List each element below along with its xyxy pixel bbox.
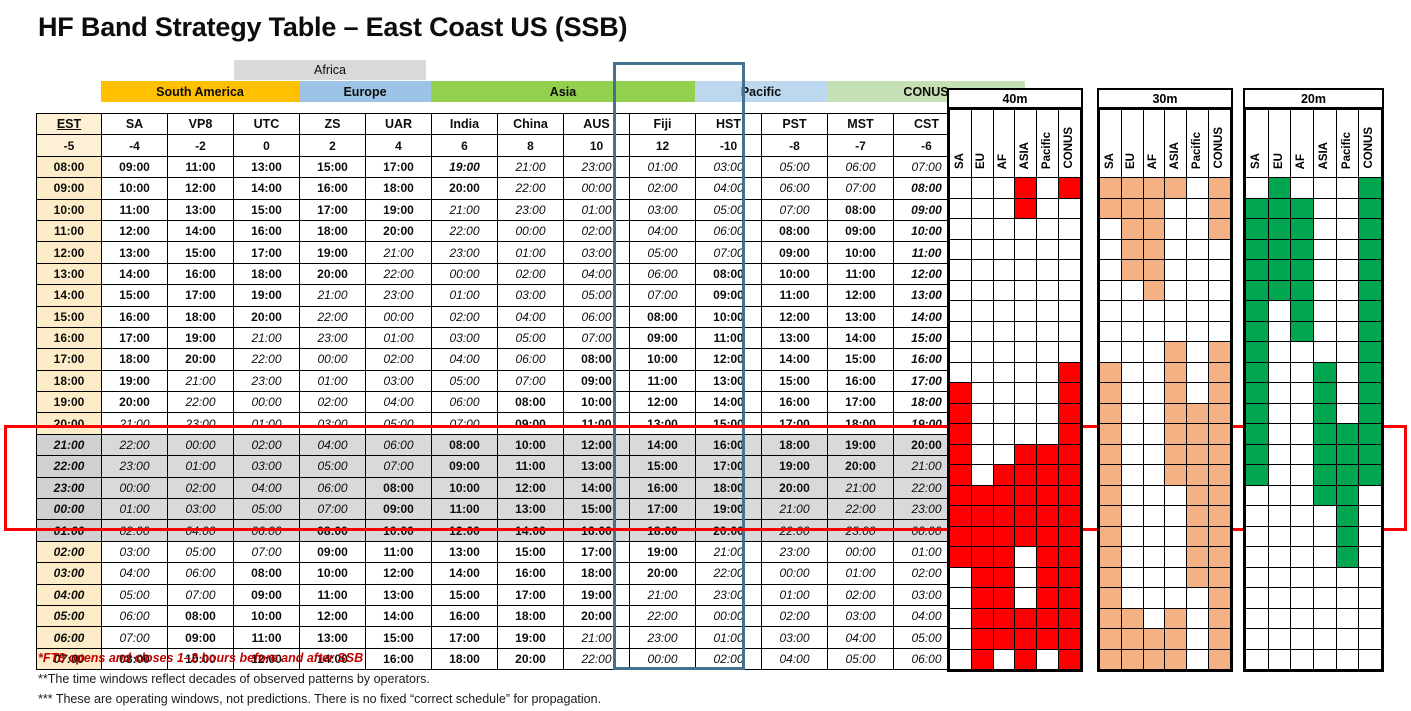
band-col-header-sa: SA [1246,110,1269,178]
band-cell-40m-1900-eu [971,403,993,424]
band-cell-30m-2000-sa [1100,424,1122,445]
time-cell-mst: 02:00 [828,584,894,605]
band-cell-30m-1100-pacific [1187,239,1209,260]
band-cell-20m-1600-conus [1359,342,1382,363]
band-cell-30m-0600-conus [1209,629,1231,650]
band-cell-20m-1300-conus [1359,280,1382,301]
time-cell-uar: 19:00 [366,199,432,220]
band-grid-row [1246,424,1382,445]
table-row: 01:0002:0004:0006:0008:0010:0012:0014:00… [37,520,960,541]
est-time-cell: 02:00 [37,541,102,562]
page-title: HF Band Strategy Table – East Coast US (… [38,12,627,43]
band-grid-row [1246,321,1382,342]
time-cell-utc: 16:00 [234,220,300,241]
band-cell-20m-1900-eu [1268,403,1291,424]
band-col-header-af: AF [993,110,1015,178]
table-row: 02:0003:0005:0007:0009:0011:0013:0015:00… [37,541,960,562]
utc-offset-aus: 10 [564,135,630,156]
band-cell-30m-2200-eu [1121,465,1143,486]
est-time-cell: 04:00 [37,584,102,605]
time-cell-pst: 09:00 [762,242,828,263]
band-grid-row [950,321,1081,342]
band-cell-30m-1900-asia [1165,403,1187,424]
time-cell-aus: 12:00 [564,434,630,455]
band-cell-40m-0600-asia [1015,629,1037,650]
column-header-uar: UAR [366,114,432,135]
band-grid-30m: SAEUAFASIAPacificCONUS [1099,109,1231,670]
time-cell-mst: 19:00 [828,434,894,455]
band-cell-20m-0100-af [1291,526,1314,547]
band-cell-20m-0000-asia [1313,506,1336,527]
band-cell-20m-0700-asia [1313,649,1336,670]
time-cell-pst: 20:00 [762,477,828,498]
band-cell-20m-0200-conus [1359,547,1382,568]
time-cell-india: 00:00 [432,263,498,284]
time-cell-mst: 21:00 [828,477,894,498]
band-cell-30m-0300-sa [1100,567,1122,588]
band-grid-row [950,629,1081,650]
time-cell-aus: 23:00 [564,156,630,177]
band-col-header-asia: ASIA [1015,110,1037,178]
time-cell-sa: 16:00 [102,306,168,327]
band-cell-30m-0700-asia [1165,649,1187,670]
band-cell-20m-2000-pacific [1336,424,1359,445]
band-grid-row [950,649,1081,670]
band-cell-40m-1800-sa [950,383,972,404]
time-cell-zs: 05:00 [300,456,366,477]
time-cell-mst: 14:00 [828,327,894,348]
band-cell-30m-1000-sa [1100,219,1122,240]
band-grid-row [950,588,1081,609]
band-cell-40m-0200-pacific [1037,547,1059,568]
time-cell-vp8: 11:00 [168,156,234,177]
band-grid-row [950,198,1081,219]
time-cell-mst: 04:00 [828,627,894,648]
time-cell-utc: 00:00 [234,392,300,413]
time-cell-sa: 20:00 [102,392,168,413]
band-cell-20m-1300-eu [1268,280,1291,301]
band-grid-row [950,506,1081,527]
band-cell-30m-1600-sa [1100,342,1122,363]
band-cell-40m-0700-pacific [1037,649,1059,670]
band-cell-30m-1200-asia [1165,260,1187,281]
time-cell-uar: 06:00 [366,434,432,455]
band-cell-20m-2200-eu [1268,465,1291,486]
time-cell-uar: 21:00 [366,242,432,263]
band-cell-20m-1600-sa [1246,342,1269,363]
band-cell-30m-0000-af [1143,506,1165,527]
time-cell-fiji: 03:00 [630,199,696,220]
time-cell-uar: 07:00 [366,456,432,477]
band-cell-40m-0700-af [993,649,1015,670]
time-cell-hst: 03:00 [696,156,762,177]
time-cell-hst: 07:00 [696,242,762,263]
time-cell-uar: 10:00 [366,520,432,541]
time-cell-china: 03:00 [498,285,564,306]
time-cell-mst: 00:00 [828,541,894,562]
band-grid-row [1100,588,1231,609]
time-cell-mst: 07:00 [828,178,894,199]
region-label-africa: Africa [234,60,426,80]
time-cell-zs: 04:00 [300,434,366,455]
band-cell-20m-2300-eu [1268,485,1291,506]
band-grid-row [1246,588,1382,609]
band-cell-30m-2000-af [1143,424,1165,445]
band-cell-20m-1300-sa [1246,280,1269,301]
time-cell-hst: 00:00 [696,605,762,626]
band-cell-30m-0000-sa [1100,506,1122,527]
time-cell-hst: 21:00 [696,541,762,562]
band-cell-40m-1900-af [993,403,1015,424]
band-cell-20m-0700-conus [1359,649,1382,670]
band-cell-20m-1800-pacific [1336,383,1359,404]
band-cell-40m-0200-conus [1059,547,1081,568]
time-cell-china: 05:00 [498,327,564,348]
time-cell-pst: 19:00 [762,456,828,477]
time-cell-uar: 03:00 [366,370,432,391]
table-head: ESTSAVP8UTCZSUARIndiaChinaAUSFijiHSTPSTM… [37,114,960,157]
band-cell-40m-2300-eu [971,485,993,506]
band-grid-row [950,301,1081,322]
band-cell-20m-2200-conus [1359,465,1382,486]
band-cell-20m-1600-af [1291,342,1314,363]
band-cell-20m-1900-sa [1246,403,1269,424]
est-time-cell: 15:00 [37,306,102,327]
table-row: 19:0020:0022:0000:0002:0004:0006:0008:00… [37,392,960,413]
band-cell-20m-0400-asia [1313,588,1336,609]
time-cell-pst: 03:00 [762,627,828,648]
utc-offset-vp8: -2 [168,135,234,156]
band-cell-40m-0200-sa [950,547,972,568]
time-cell-mst: 08:00 [828,199,894,220]
time-cell-mst: 22:00 [828,499,894,520]
band-cell-30m-2100-eu [1121,444,1143,465]
table-row: 22:0023:0001:0003:0005:0007:0009:0011:00… [37,456,960,477]
band-cell-40m-0600-eu [971,629,993,650]
time-cell-utc: 10:00 [234,605,300,626]
time-cell-india: 19:00 [432,156,498,177]
band-cell-40m-1200-af [993,260,1015,281]
band-grid-row [950,485,1081,506]
band-cell-40m-0000-asia [1015,506,1037,527]
band-cell-40m-1200-pacific [1037,260,1059,281]
band-grid-row [950,424,1081,445]
band-cell-30m-1200-pacific [1187,260,1209,281]
column-header-sa: SA [102,114,168,135]
band-cell-30m-0100-af [1143,526,1165,547]
band-cell-40m-1600-sa [950,342,972,363]
time-cell-pst: 11:00 [762,285,828,306]
band-grid-row [950,403,1081,424]
time-cell-india: 11:00 [432,499,498,520]
band-cell-30m-0800-asia [1165,178,1187,199]
band-cell-30m-1200-conus [1209,260,1231,281]
time-cell-zs: 00:00 [300,349,366,370]
band-col-header-conus: CONUS [1059,110,1081,178]
time-cell-mst: 23:00 [828,520,894,541]
time-cell-mst: 06:00 [828,156,894,177]
band-cell-20m-0100-asia [1313,526,1336,547]
time-cell-mst: 09:00 [828,220,894,241]
time-cell-vp8: 07:00 [168,584,234,605]
band-cell-30m-1400-eu [1121,301,1143,322]
time-cell-fiji: 09:00 [630,327,696,348]
time-cell-fiji: 12:00 [630,392,696,413]
band-cell-20m-1200-asia [1313,260,1336,281]
band-cell-40m-2200-sa [950,465,972,486]
time-cell-vp8: 01:00 [168,456,234,477]
band-cell-40m-1100-conus [1059,239,1081,260]
time-cell-aus: 05:00 [564,285,630,306]
band-cell-30m-1900-eu [1121,403,1143,424]
time-cell-zs: 07:00 [300,499,366,520]
band-cell-30m-1100-sa [1100,239,1122,260]
band-cell-40m-0800-asia [1015,178,1037,199]
band-cell-40m-0400-conus [1059,588,1081,609]
band-cell-40m-0300-af [993,567,1015,588]
time-cell-sa: 02:00 [102,520,168,541]
band-cell-20m-1800-asia [1313,383,1336,404]
est-time-cell: 20:00 [37,413,102,434]
band-cell-20m-1100-asia [1313,239,1336,260]
band-cell-20m-1500-af [1291,321,1314,342]
band-grid-row [950,383,1081,404]
time-cell-hst: 08:00 [696,263,762,284]
band-cell-30m-2300-asia [1165,485,1187,506]
band-grid-row [1100,649,1231,670]
band-cell-30m-0100-sa [1100,526,1122,547]
band-cell-30m-1300-af [1143,280,1165,301]
table-row: 10:0011:0013:0015:0017:0019:0021:0023:00… [37,199,960,220]
band-cell-40m-2000-sa [950,424,972,445]
band-cell-30m-1700-asia [1165,362,1187,383]
band-grid-row [950,280,1081,301]
band-cell-30m-0000-pacific [1187,506,1209,527]
band-cell-40m-0700-conus [1059,649,1081,670]
band-cell-20m-1900-asia [1313,403,1336,424]
time-cell-india: 10:00 [432,477,498,498]
time-cell-china: 11:00 [498,456,564,477]
time-cell-hst: 06:00 [696,220,762,241]
band-cell-40m-0800-pacific [1037,178,1059,199]
band-cell-20m-0600-asia [1313,629,1336,650]
time-cell-fiji: 21:00 [630,584,696,605]
band-cell-30m-2200-sa [1100,465,1122,486]
band-cell-20m-0100-pacific [1336,526,1359,547]
time-cell-hst: 16:00 [696,434,762,455]
time-cell-fiji: 23:00 [630,627,696,648]
band-cell-20m-0700-pacific [1336,649,1359,670]
band-cell-30m-1000-pacific [1187,219,1209,240]
band-cell-30m-1400-asia [1165,301,1187,322]
est-time-cell: 13:00 [37,263,102,284]
band-cell-30m-0500-conus [1209,608,1231,629]
time-cell-india: 01:00 [432,285,498,306]
band-cell-40m-0800-sa [950,178,972,199]
band-cell-40m-1000-sa [950,219,972,240]
band-cell-20m-1000-af [1291,219,1314,240]
time-cell-vp8: 20:00 [168,349,234,370]
time-cell-fiji: 19:00 [630,541,696,562]
time-cell-uar: 18:00 [366,178,432,199]
band-cell-20m-0400-conus [1359,588,1382,609]
time-cell-hst: 22:00 [696,563,762,584]
band-grid-row [1100,506,1231,527]
band-cell-20m-0900-af [1291,198,1314,219]
time-cell-hst: 05:00 [696,199,762,220]
band-cell-40m-0300-sa [950,567,972,588]
band-cell-20m-0900-asia [1313,198,1336,219]
band-grid-row [1246,383,1382,404]
time-cell-fiji: 18:00 [630,520,696,541]
band-cell-40m-0800-eu [971,178,993,199]
band-cell-40m-1600-pacific [1037,342,1059,363]
band-cell-30m-1900-af [1143,403,1165,424]
band-cell-40m-0100-eu [971,526,993,547]
band-cell-30m-2000-eu [1121,424,1143,445]
column-header-est: EST [37,114,102,135]
time-cell-utc: 22:00 [234,349,300,370]
band-cell-20m-0100-eu [1268,526,1291,547]
time-cell-vp8: 08:00 [168,605,234,626]
band-grid-row [1100,465,1231,486]
band-cell-20m-1700-asia [1313,362,1336,383]
band-grid-row [1100,321,1231,342]
time-cell-sa: 12:00 [102,220,168,241]
time-cell-uar: 12:00 [366,563,432,584]
band-cell-40m-1400-pacific [1037,301,1059,322]
band-grid-row [950,260,1081,281]
band-cell-30m-1700-sa [1100,362,1122,383]
time-cell-vp8: 15:00 [168,242,234,263]
band-cell-20m-0700-sa [1246,649,1269,670]
band-cell-20m-0800-pacific [1336,178,1359,199]
time-cell-mst: 11:00 [828,263,894,284]
table-row: 17:0018:0020:0022:0000:0002:0004:0006:00… [37,349,960,370]
band-cell-20m-1500-eu [1268,321,1291,342]
band-cell-30m-1300-pacific [1187,280,1209,301]
band-cell-20m-2100-eu [1268,444,1291,465]
time-cell-pst: 18:00 [762,434,828,455]
time-cell-utc: 04:00 [234,477,300,498]
time-cell-utc: 14:00 [234,178,300,199]
time-cell-aus: 01:00 [564,199,630,220]
est-time-cell: 11:00 [37,220,102,241]
time-cell-uar: 00:00 [366,306,432,327]
band-cell-20m-0100-sa [1246,526,1269,547]
band-cell-20m-2000-eu [1268,424,1291,445]
band-cell-40m-0700-sa [950,649,972,670]
band-cell-30m-1300-sa [1100,280,1122,301]
time-cell-utc: 19:00 [234,285,300,306]
band-cell-20m-1300-af [1291,280,1314,301]
band-cell-30m-0400-conus [1209,588,1231,609]
band-cell-30m-2100-pacific [1187,444,1209,465]
time-cell-utc: 03:00 [234,456,300,477]
band-cell-20m-2100-asia [1313,444,1336,465]
table-header-row: ESTSAVP8UTCZSUARIndiaChinaAUSFijiHSTPSTM… [37,114,960,135]
time-cell-india: 03:00 [432,327,498,348]
band-cell-40m-0400-asia [1015,588,1037,609]
band-cell-30m-1300-conus [1209,280,1231,301]
time-cell-utc: 08:00 [234,563,300,584]
time-cell-fiji: 22:00 [630,605,696,626]
band-grid-row [950,567,1081,588]
band-grid-row [1246,608,1382,629]
band-cell-30m-0700-conus [1209,649,1231,670]
time-cell-vp8: 21:00 [168,370,234,391]
band-cell-30m-0000-conus [1209,506,1231,527]
band-cell-20m-1000-conus [1359,219,1382,240]
band-cell-40m-1600-conus [1059,342,1081,363]
band-cell-40m-0500-conus [1059,608,1081,629]
band-grid-row [1246,178,1382,199]
band-cell-40m-1700-af [993,362,1015,383]
column-header-india: India [432,114,498,135]
time-cell-sa: 09:00 [102,156,168,177]
time-cell-hst: 04:00 [696,178,762,199]
band-col-header-eu: EU [971,110,993,178]
band-cell-20m-0800-conus [1359,178,1382,199]
band-cell-40m-0700-eu [971,649,993,670]
time-cell-vp8: 23:00 [168,413,234,434]
band-title-20m: 20m [1245,90,1382,109]
est-time-cell: 19:00 [37,392,102,413]
band-cell-40m-2300-asia [1015,485,1037,506]
time-cell-india: 23:00 [432,242,498,263]
band-grid-row [1100,362,1231,383]
band-grid-row [1100,260,1231,281]
band-cell-40m-1800-af [993,383,1015,404]
band-cell-40m-2300-conus [1059,485,1081,506]
time-cell-sa: 22:00 [102,434,168,455]
time-cell-uar: 11:00 [366,541,432,562]
band-cell-20m-1500-asia [1313,321,1336,342]
footnotes: *FT8 opens and closes 1–2 hours before a… [38,648,798,710]
band-cell-40m-2000-af [993,424,1015,445]
est-time-cell: 03:00 [37,563,102,584]
band-cell-40m-2000-asia [1015,424,1037,445]
time-cell-india: 21:00 [432,199,498,220]
band-cell-30m-0800-af [1143,178,1165,199]
time-cell-fiji: 05:00 [630,242,696,263]
utc-offset-hst: -10 [696,135,762,156]
band-cell-20m-0200-sa [1246,547,1269,568]
time-cell-vp8: 03:00 [168,499,234,520]
hf-band-strategy-page: HF Band Strategy Table – East Coast US (… [0,0,1411,711]
band-cell-20m-1500-pacific [1336,321,1359,342]
time-cell-aus: 08:00 [564,349,630,370]
time-cell-vp8: 22:00 [168,392,234,413]
band-cell-30m-1800-af [1143,383,1165,404]
time-cell-uar: 09:00 [366,499,432,520]
band-cell-30m-0200-sa [1100,547,1122,568]
time-cell-china: 23:00 [498,199,564,220]
band-cell-20m-0300-eu [1268,567,1291,588]
time-cell-pst: 23:00 [762,541,828,562]
band-cell-30m-2300-eu [1121,485,1143,506]
time-cell-fiji: 07:00 [630,285,696,306]
band-cell-30m-1800-eu [1121,383,1143,404]
band-cell-30m-0400-asia [1165,588,1187,609]
time-cell-zs: 22:00 [300,306,366,327]
band-col-header-af: AF [1143,110,1165,178]
band-grid-row [950,362,1081,383]
band-cell-20m-1400-sa [1246,301,1269,322]
band-cell-40m-0300-eu [971,567,993,588]
band-title-40m: 40m [949,90,1081,109]
band-cell-40m-2300-pacific [1037,485,1059,506]
